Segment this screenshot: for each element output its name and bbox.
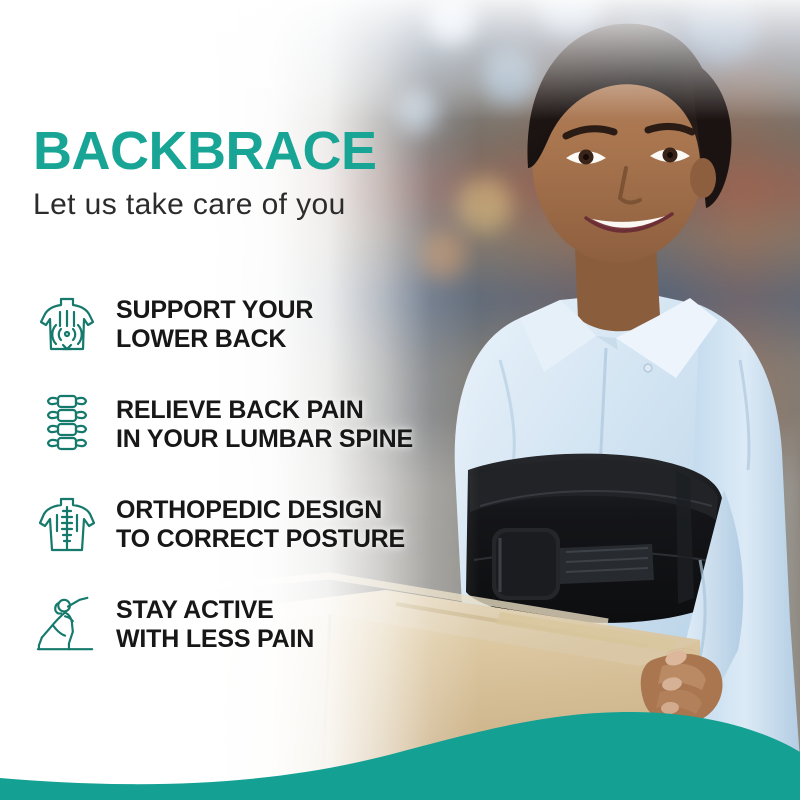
feature-label: SUPPORT YOUR LOWER BACK xyxy=(116,296,313,354)
feature-label: ORTHOPEDIC DESIGN TO CORRECT POSTURE xyxy=(116,496,405,554)
back-torso-pain-waves-icon xyxy=(36,291,98,359)
white-top-fade xyxy=(0,0,800,120)
feature-list: SUPPORT YOUR LOWER BACK xyxy=(36,275,456,675)
tagline: Let us take care of you xyxy=(33,190,346,220)
feature-item: ORTHOPEDIC DESIGN TO CORRECT POSTURE xyxy=(36,475,456,575)
page-title: BACKBRACE xyxy=(33,124,377,178)
feature-label: STAY ACTIVE WITH LESS PAIN xyxy=(116,596,314,654)
feature-item: RELIEVE BACK PAIN IN YOUR LUMBAR SPINE xyxy=(36,375,456,475)
feature-item: STAY ACTIVE WITH LESS PAIN xyxy=(36,575,456,675)
back-torso-spine-icon xyxy=(36,491,98,559)
spine-vertebrae-stack-icon xyxy=(36,391,98,459)
feature-label: RELIEVE BACK PAIN IN YOUR LUMBAR SPINE xyxy=(116,396,413,454)
product-banner: BACKBRACE Let us take care of you SUPPOR… xyxy=(0,0,800,800)
bottom-wave-decoration xyxy=(0,680,800,800)
feature-item: SUPPORT YOUR LOWER BACK xyxy=(36,275,456,375)
person-stretching-lunge-icon xyxy=(36,591,98,659)
